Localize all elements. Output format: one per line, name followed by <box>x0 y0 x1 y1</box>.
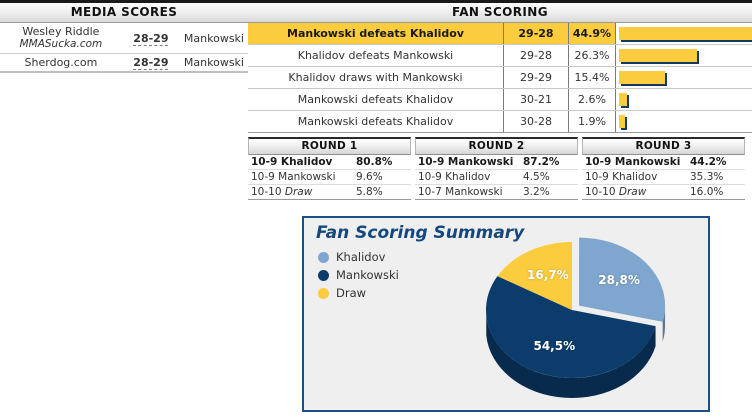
round-header: ROUND 2 <box>415 137 578 155</box>
table-row: 10-7 Mankowski3.2% <box>415 185 578 200</box>
round-percent-cell: 35.3% <box>687 170 745 185</box>
table-row: 10-9 Khalidov80.8% <box>248 155 411 170</box>
pie-chart-svg <box>454 232 704 412</box>
fan-percent-value: 2.6% <box>569 89 616 110</box>
legend-item: Khalidov <box>318 248 399 266</box>
media-scores-header: MEDIA SCORES <box>0 0 248 23</box>
fan-scoring-row[interactable]: Mankowski defeats Khalidov29-2844.9% <box>248 23 752 45</box>
round-score-cell: 10-9 Mankowski <box>582 155 687 170</box>
round-percent-cell: 16.0% <box>687 185 745 200</box>
round-score-cell: 10-10 Draw <box>248 185 353 200</box>
pie-slice-label: 28,8% <box>598 273 640 287</box>
fan-score-value: 30-28 <box>504 111 569 132</box>
media-score-cell[interactable]: 28-29 <box>122 54 180 73</box>
fan-bar <box>619 71 665 84</box>
round-percent-cell: 9.6% <box>353 170 411 185</box>
media-score-value[interactable]: 28-29 <box>133 32 168 46</box>
legend-label: Mankowski <box>336 268 399 282</box>
fan-bar <box>619 49 697 62</box>
fan-score-value: 30-21 <box>504 89 569 110</box>
pie-slice-label: 16,7% <box>527 268 569 282</box>
fan-bar <box>619 115 625 128</box>
round-score-cell: 10-9 Khalidov <box>415 170 520 185</box>
fan-bar-track <box>616 89 752 110</box>
pie-chart: 28,8%54,5%16,7% <box>454 232 704 412</box>
legend-swatch-icon <box>318 288 329 299</box>
media-source-cell: Sherdog.com <box>0 54 122 73</box>
fan-scoring-row[interactable]: Mankowski defeats Khalidov30-281.9% <box>248 111 752 133</box>
round-block: ROUND 310-9 Mankowski44.2%10-9 Khalidov3… <box>582 137 745 200</box>
table-row: 10-9 Mankowski9.6% <box>248 170 411 185</box>
round-header: ROUND 1 <box>248 137 411 155</box>
round-header: ROUND 3 <box>582 137 745 155</box>
round-score-cell: 10-7 Mankowski <box>415 185 520 200</box>
fan-outcome-label: Mankowski defeats Khalidov <box>248 89 504 110</box>
media-winner-cell: Mankowski <box>180 23 248 54</box>
table-row: 10-10 Draw16.0% <box>582 185 745 200</box>
chart-legend: KhalidovMankowskiDraw <box>318 248 399 302</box>
round-breakdown: ROUND 110-9 Khalidov80.8%10-9 Mankowski9… <box>248 137 752 200</box>
draw-label: Draw <box>285 186 312 198</box>
fan-percent-value: 44.9% <box>569 23 616 44</box>
media-scores-body: Wesley Riddle MMASucka.com 28-29 Mankows… <box>0 23 248 72</box>
round-score-cell: 10-10 Draw <box>582 185 687 200</box>
fan-bar-track <box>616 23 752 44</box>
fan-scoring-panel: FAN SCORING Mankowski defeats Khalidov29… <box>248 0 752 133</box>
round-table: 10-9 Khalidov80.8%10-9 Mankowski9.6%10-1… <box>248 155 411 200</box>
fan-bar-track <box>616 67 752 88</box>
media-score-cell[interactable]: 28-29 <box>122 23 180 54</box>
fan-score-value: 29-28 <box>504 23 569 44</box>
fan-percent-value: 1.9% <box>569 111 616 132</box>
fan-scoring-header: FAN SCORING <box>248 0 752 23</box>
draw-label: Draw <box>619 186 646 198</box>
round-table: 10-9 Mankowski44.2%10-9 Khalidov35.3%10-… <box>582 155 745 200</box>
round-score-cell: 10-9 Mankowski <box>248 170 353 185</box>
fan-score-value: 29-28 <box>504 45 569 66</box>
table-row: 10-9 Mankowski87.2% <box>415 155 578 170</box>
media-winner-cell: Mankowski <box>180 54 248 73</box>
fan-bar <box>619 93 627 106</box>
round-block: ROUND 210-9 Mankowski87.2%10-9 Khalidov4… <box>415 137 578 200</box>
fan-scoring-row[interactable]: Khalidov defeats Mankowski29-2826.3% <box>248 45 752 67</box>
fan-outcome-label: Mankowski defeats Khalidov <box>248 23 504 44</box>
table-row: Sherdog.com 28-29 Mankowski <box>0 54 248 73</box>
table-row: 10-9 Khalidov35.3% <box>582 170 745 185</box>
legend-label: Khalidov <box>336 250 385 264</box>
fan-scoring-rows: Mankowski defeats Khalidov29-2844.9%Khal… <box>248 23 752 133</box>
fan-percent-value: 15.4% <box>569 67 616 88</box>
fan-outcome-label: Mankowski defeats Khalidov <box>248 111 504 132</box>
round-score-cell: 10-9 Khalidov <box>582 170 687 185</box>
fan-bar <box>619 27 752 40</box>
legend-item: Mankowski <box>318 266 399 284</box>
table-row: Wesley Riddle MMASucka.com 28-29 Mankows… <box>0 23 248 54</box>
media-scores-panel: MEDIA SCORES Wesley Riddle MMASucka.com … <box>0 0 248 73</box>
media-source-cell: Wesley Riddle MMASucka.com <box>0 23 122 54</box>
legend-label: Draw <box>336 286 366 300</box>
fan-score-value: 29-29 <box>504 67 569 88</box>
table-row: 10-10 Draw5.8% <box>248 185 411 200</box>
legend-item: Draw <box>318 284 399 302</box>
fan-scoring-summary-chart: Fan Scoring Summary KhalidovMankowskiDra… <box>302 216 710 412</box>
round-score-cell: 10-9 Mankowski <box>415 155 520 170</box>
fan-percent-value: 26.3% <box>569 45 616 66</box>
media-score-value[interactable]: 28-29 <box>133 56 168 70</box>
fan-scoring-row[interactable]: Khalidov draws with Mankowski29-2915.4% <box>248 67 752 89</box>
media-source-outlet: MMASucka.com <box>4 38 118 51</box>
round-percent-cell: 80.8% <box>353 155 411 170</box>
fan-bar-track <box>616 45 752 66</box>
fan-bar-track <box>616 111 752 132</box>
round-block: ROUND 110-9 Khalidov80.8%10-9 Mankowski9… <box>248 137 411 200</box>
round-table: 10-9 Mankowski87.2%10-9 Khalidov4.5%10-7… <box>415 155 578 200</box>
table-row: 10-9 Khalidov4.5% <box>415 170 578 185</box>
round-percent-cell: 87.2% <box>520 155 578 170</box>
media-scores-table: Wesley Riddle MMASucka.com 28-29 Mankows… <box>0 23 248 73</box>
round-score-cell: 10-9 Khalidov <box>248 155 353 170</box>
round-percent-cell: 3.2% <box>520 185 578 200</box>
legend-swatch-icon <box>318 252 329 263</box>
round-percent-cell: 4.5% <box>520 170 578 185</box>
media-source-name: Wesley Riddle <box>4 25 118 38</box>
fan-scoring-row[interactable]: Mankowski defeats Khalidov30-212.6% <box>248 89 752 111</box>
legend-swatch-icon <box>318 270 329 281</box>
round-percent-cell: 44.2% <box>687 155 745 170</box>
fan-outcome-label: Khalidov draws with Mankowski <box>248 67 504 88</box>
table-row: 10-9 Mankowski44.2% <box>582 155 745 170</box>
media-source-name: Sherdog.com <box>4 56 118 69</box>
fan-outcome-label: Khalidov defeats Mankowski <box>248 45 504 66</box>
pie-slice-label: 54,5% <box>533 339 575 353</box>
round-percent-cell: 5.8% <box>353 185 411 200</box>
